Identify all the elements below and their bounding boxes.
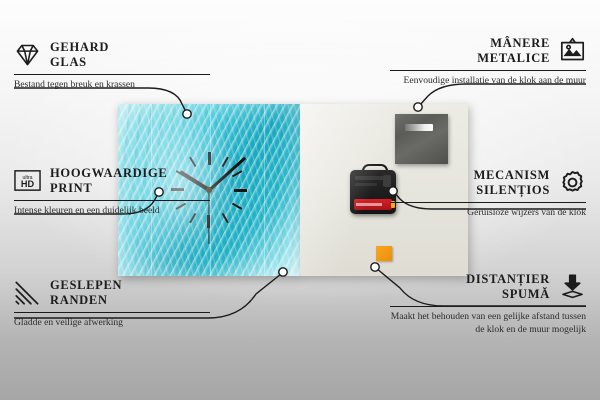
- callout-title: HOOGWAARDIGE PRINT: [50, 166, 167, 196]
- framed-picture-icon: [559, 37, 586, 64]
- glass-seam: [264, 104, 265, 276]
- callout-description: Intense kleuren en een duidelijk beeld: [14, 205, 210, 218]
- glass-seam: [210, 104, 211, 276]
- callout-rule: [390, 306, 586, 307]
- callout-rule: [14, 312, 210, 313]
- callout-mecanism-silentios[interactable]: MECANISM SILENȚIOS Geruisloze wijzers va…: [390, 168, 586, 220]
- callout-title: MÂNERE METALICE: [477, 36, 550, 66]
- callout-manere-metalice[interactable]: MÂNERE METALICE Eenvoudige installatie v…: [390, 36, 586, 88]
- clock-minute-hand: [208, 157, 246, 191]
- diamond-icon: [14, 41, 41, 68]
- foam-spacer: [376, 246, 392, 261]
- callout-description: Gladde en veilige afwerking: [14, 317, 210, 330]
- callout-rule: [14, 74, 210, 75]
- callout-hoogwaardige-print[interactable]: ultra HD HOOGWAARDIGE PRINT Intense kleu…: [14, 166, 210, 218]
- callout-title: MECANISM SILENȚIOS: [474, 168, 550, 198]
- metal-handle-swatch: [395, 114, 448, 164]
- gear-icon: [559, 169, 586, 196]
- callout-gehard-glas[interactable]: GEHARD GLAS Bestand tegen breuk en krass…: [14, 40, 210, 92]
- battery-label: [356, 203, 382, 206]
- callout-description: Bestand tegen breuk en krassen: [14, 79, 210, 92]
- battery: [354, 199, 392, 210]
- mechanism-slot: [355, 176, 385, 180]
- metal-hanger-icon: [362, 164, 388, 175]
- callout-distantier-spuma[interactable]: DISTANȚIER SPUMĂ Maakt het behouden van …: [390, 272, 586, 337]
- callout-title: GEHARD GLAS: [50, 40, 109, 70]
- callout-rule: [390, 70, 586, 71]
- arrow-down-layers-icon: [559, 273, 586, 300]
- callout-description: Geruisloze wijzers van de klok: [390, 207, 586, 220]
- callout-title: GESLEPEN RANDEN: [50, 278, 122, 308]
- callout-rule: [14, 200, 210, 201]
- callout-description: Maakt het behouden van een gelijke afsta…: [390, 311, 586, 337]
- svg-text:HD: HD: [21, 180, 35, 190]
- ultra-hd-icon: ultra HD: [14, 167, 41, 194]
- callout-description: Eenvoudige installatie van de klok aan d…: [390, 75, 586, 88]
- infographic-canvas: GEHARD GLAS Bestand tegen breuk en krass…: [0, 0, 600, 400]
- callout-title: DISTANȚIER SPUMĂ: [466, 272, 550, 302]
- beveled-edges-icon: [14, 279, 41, 306]
- callout-geslepen-randen[interactable]: GESLEPEN RANDEN Gladde en veilige afwerk…: [14, 278, 210, 330]
- mechanism-slot: [355, 183, 377, 186]
- callout-rule: [390, 202, 586, 203]
